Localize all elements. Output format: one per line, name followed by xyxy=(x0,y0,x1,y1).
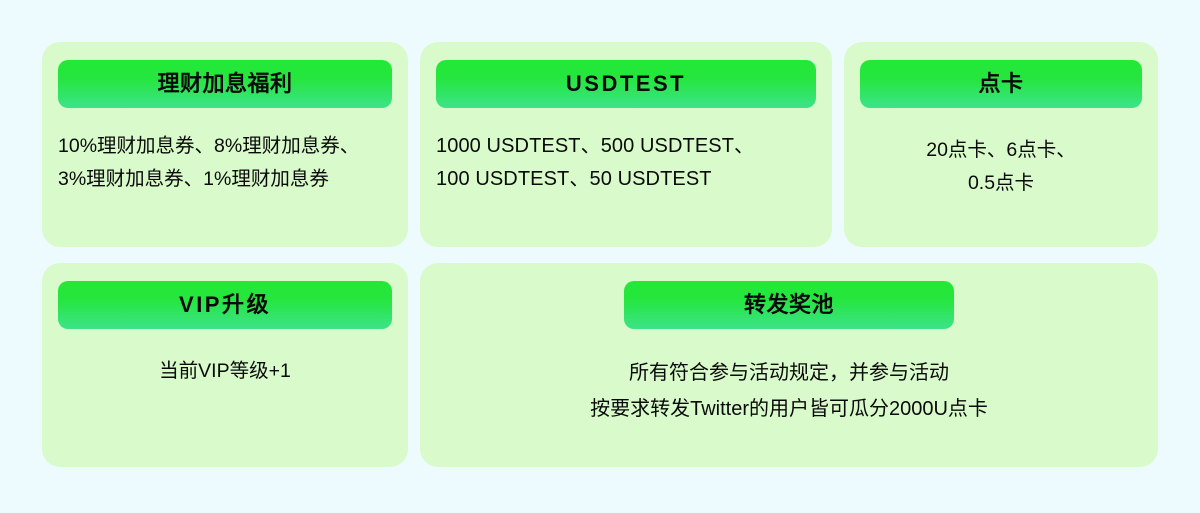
reward-card-finance-interest-bonus[interactable]: 理财加息福利 10%理财加息券、8%理财加息券、 3%理财加息券、1%理财加息券 xyxy=(42,42,408,247)
reward-title-pill-points-card: 点卡 xyxy=(860,60,1142,108)
reward-title-pill-usdtest: USDTEST xyxy=(436,60,816,108)
rewards-board: 理财加息福利 10%理财加息券、8%理财加息券、 3%理财加息券、1%理财加息券… xyxy=(42,42,1158,467)
reward-title-finance-interest-bonus: 理财加息福利 xyxy=(157,73,292,95)
reward-body-finance-interest-bonus: 10%理财加息券、8%理财加息券、 3%理财加息券、1%理财加息券 xyxy=(58,130,392,196)
reward-title-points-card: 点卡 xyxy=(978,73,1023,95)
reward-title-pill-retweet-prize-pool: 转发奖池 xyxy=(624,281,954,329)
rewards-row-top: 理财加息福利 10%理财加息券、8%理财加息券、 3%理财加息券、1%理财加息券… xyxy=(42,42,1158,247)
reward-body-points-card: 20点卡、6点卡、 0.5点卡 xyxy=(860,134,1142,200)
reward-title-usdtest: USDTEST xyxy=(566,73,686,95)
reward-title-retweet-prize-pool: 转发奖池 xyxy=(744,294,834,316)
reward-card-points-card[interactable]: 点卡 20点卡、6点卡、 0.5点卡 xyxy=(844,42,1158,247)
rewards-row-bottom: VIP升级 当前VIP等级+1 转发奖池 所有符合参与活动规定，并参与活动 按要… xyxy=(42,263,1158,467)
reward-body-vip-upgrade: 当前VIP等级+1 xyxy=(58,355,392,388)
reward-title-pill-finance-interest-bonus: 理财加息福利 xyxy=(58,60,392,108)
reward-body-usdtest: 1000 USDTEST、500 USDTEST、 100 USDTEST、50… xyxy=(436,130,816,196)
reward-title-pill-vip-upgrade: VIP升级 xyxy=(58,281,392,329)
reward-card-retweet-prize-pool[interactable]: 转发奖池 所有符合参与活动规定，并参与活动 按要求转发Twitter的用户皆可瓜… xyxy=(420,263,1158,467)
reward-card-vip-upgrade[interactable]: VIP升级 当前VIP等级+1 xyxy=(42,263,408,467)
reward-title-vip-upgrade: VIP升级 xyxy=(179,294,271,316)
reward-card-usdtest[interactable]: USDTEST 1000 USDTEST、500 USDTEST、 100 US… xyxy=(420,42,832,247)
reward-body-retweet-prize-pool: 所有符合参与活动规定，并参与活动 按要求转发Twitter的用户皆可瓜分2000… xyxy=(436,355,1142,427)
